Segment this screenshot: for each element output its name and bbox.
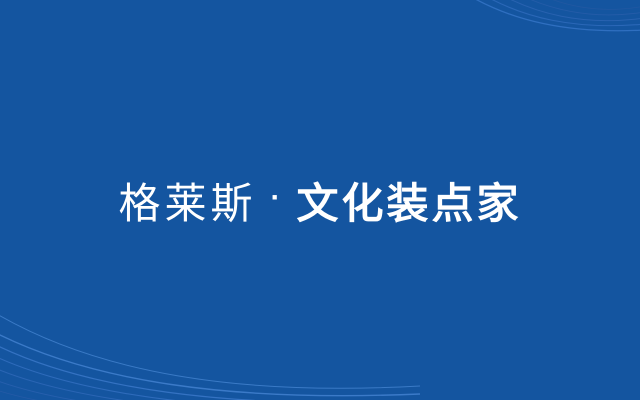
title-slide: 格莱斯 · 文化装点家 xyxy=(0,0,640,400)
brand-name: 格莱斯 xyxy=(118,170,256,231)
slide-title: 格莱斯 · 文化装点家 xyxy=(118,170,521,231)
title-separator-dot: · xyxy=(271,181,281,215)
brand-tagline: 文化装点家 xyxy=(297,170,522,231)
slide-title-container: 格莱斯 · 文化装点家 xyxy=(0,0,640,400)
